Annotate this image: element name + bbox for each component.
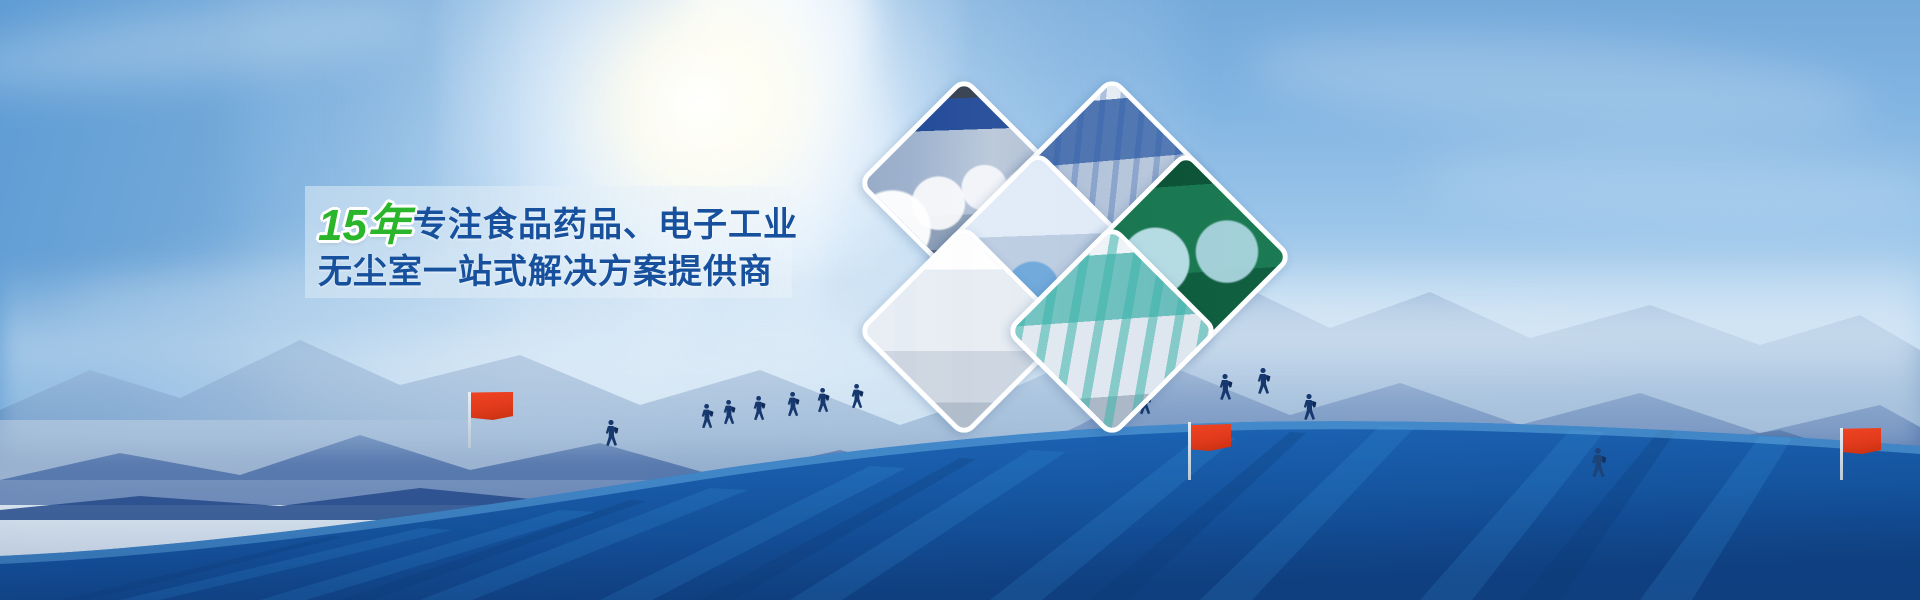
red-flag-left	[468, 392, 514, 448]
hiker-silhouette	[786, 392, 801, 420]
headline-line-1-text: 专注食品药品、电子工业	[413, 206, 798, 244]
hero-banner: 15年专注食品药品、电子工业 无尘室一站式解决方案提供商	[0, 0, 1920, 600]
headline-line-2: 无尘室一站式解决方案提供商	[318, 253, 788, 291]
red-flag-right	[1840, 428, 1880, 480]
hiker-silhouette	[700, 404, 715, 432]
hiker-silhouette	[722, 400, 737, 428]
hiker-silhouette	[1302, 394, 1318, 424]
flag-cloth	[471, 392, 513, 420]
flag-cloth	[1843, 428, 1881, 454]
hiker-silhouette	[816, 388, 831, 416]
hiker-silhouette	[604, 420, 620, 450]
flag-pole	[468, 392, 471, 448]
headline: 15年专注食品药品、电子工业 无尘室一站式解决方案提供商	[318, 201, 788, 291]
hiker-silhouette	[1590, 448, 1608, 482]
diamond-photo-grid	[840, 85, 1300, 475]
years-badge: 15年	[318, 201, 411, 250]
flag-pole	[1840, 428, 1843, 480]
headline-line-1: 15年专注食品药品、电子工业	[318, 201, 788, 250]
hiker-silhouette	[752, 396, 767, 424]
